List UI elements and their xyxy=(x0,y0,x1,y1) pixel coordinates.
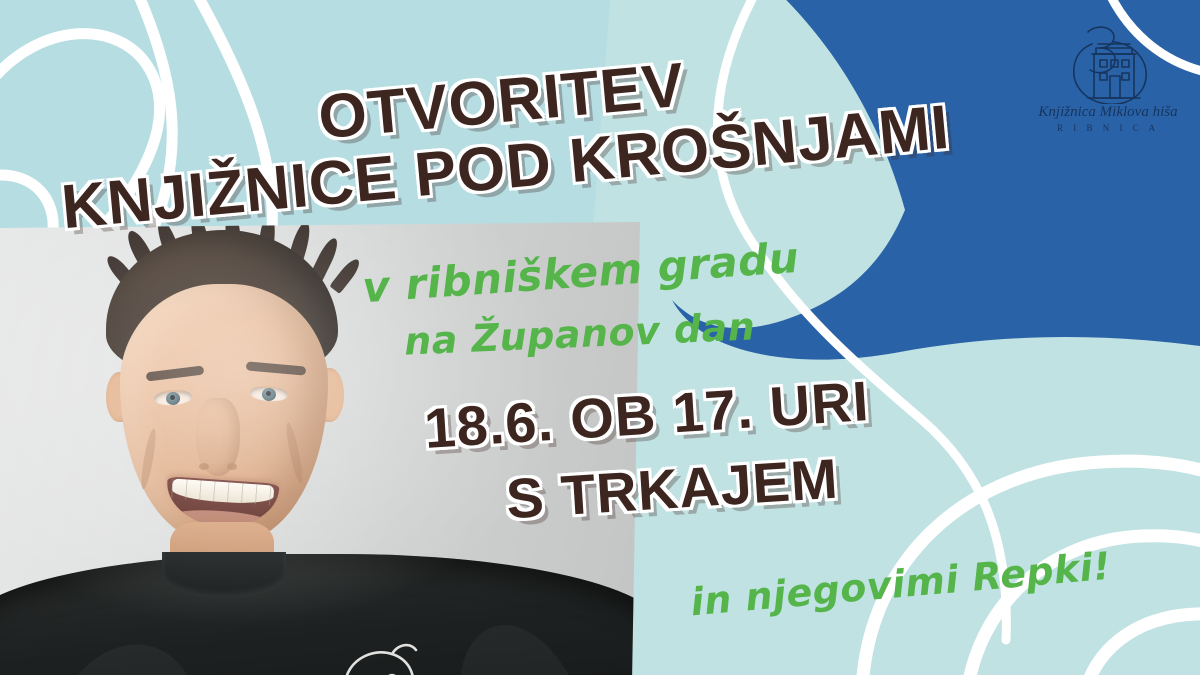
library-logo: Knjižnica Miklova hiša R I B N I C A xyxy=(1028,18,1188,138)
lower-lip xyxy=(175,508,268,528)
black-tshirt xyxy=(0,554,640,675)
tshirt-collar xyxy=(162,552,286,598)
tshirt-print-rooster xyxy=(294,632,464,675)
nostril-left xyxy=(199,463,209,470)
logo-subtitle: R I B N I C A xyxy=(1028,123,1188,133)
hair xyxy=(106,230,338,380)
hair-spike xyxy=(284,222,313,276)
neck xyxy=(170,522,274,608)
teeth xyxy=(171,478,274,505)
mouth xyxy=(165,476,280,530)
nostril-right xyxy=(227,463,237,470)
hair-spike xyxy=(103,252,138,290)
event-poster: OTVORITEV KNJIŽNICE POD KROŠNJAMI 18.6. … xyxy=(0,0,1200,675)
iris-right xyxy=(261,388,276,402)
ear-left xyxy=(106,372,132,422)
shirt-fold xyxy=(436,608,612,675)
eye-right xyxy=(250,385,289,403)
hair-spike xyxy=(329,256,363,294)
logo-name: Knjižnica Miklova hiša xyxy=(1028,104,1188,121)
smile-line-left xyxy=(139,428,159,491)
nose xyxy=(196,398,240,476)
hair-spike xyxy=(309,236,342,283)
chin xyxy=(180,514,268,548)
hair-spike xyxy=(224,222,243,273)
iris-left xyxy=(166,392,181,406)
hair-spike xyxy=(256,222,277,273)
smile-line-right xyxy=(284,422,306,485)
eyelid-left xyxy=(154,389,192,394)
ear-right xyxy=(316,368,344,422)
library-building-mark-icon xyxy=(1028,18,1188,104)
face xyxy=(120,284,328,542)
eyebrow-right xyxy=(246,361,307,375)
shirt-fold xyxy=(25,622,222,675)
eyebrow-left xyxy=(146,365,205,381)
eyelid-right xyxy=(250,385,288,390)
eye-left xyxy=(154,389,193,407)
